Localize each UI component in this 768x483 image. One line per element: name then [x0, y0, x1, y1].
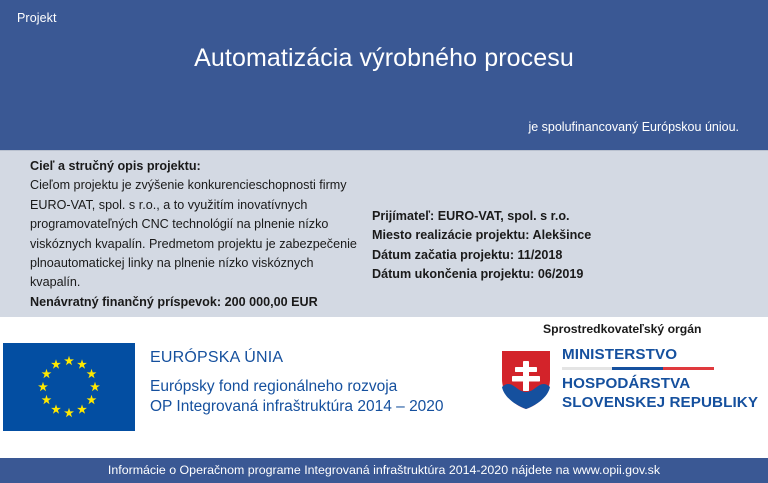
logo-band: Sprostredkovateľský orgán EURÓPSKA ÚNIA … [0, 317, 768, 458]
eu-logo: EURÓPSKA ÚNIA Európsky fond regionálneho… [3, 343, 483, 431]
project-grant-amount: Nenávratný finančný príspevok: 200 000,0… [30, 293, 360, 312]
rule-segment-red [663, 367, 714, 370]
project-description-heading: Cieľ a stručný opis projektu: [30, 157, 360, 176]
detail-start-date: Dátum začatia projektu: 11/2018 [372, 246, 742, 265]
detail-beneficiary: Prijímateľ: EURO-VAT, spol. s r.o. [372, 207, 742, 226]
eu-title-line: EURÓPSKA ÚNIA [150, 345, 444, 371]
header-banner: Projekt Automatizácia výrobného procesu … [0, 0, 768, 150]
intermediary-body-label: Sprostredkovateľský orgán [543, 322, 701, 336]
eu-flag-icon [3, 343, 135, 431]
eu-logo-text: EURÓPSKA ÚNIA Európsky fond regionálneho… [150, 345, 444, 417]
header-eyebrow-label: Projekt [17, 11, 57, 25]
project-details-column: Prijímateľ: EURO-VAT, spol. s r.o. Miest… [372, 207, 742, 285]
page-title: Automatizácia výrobného procesu [0, 44, 768, 73]
project-info-panel: Cieľ a stručný opis projektu: Cieľom pro… [0, 150, 768, 317]
detail-location: Miesto realizácie projektu: Alekšince [372, 226, 742, 245]
ministry-logo-text: MINISTERSTVO HOSPODÁRSTVA SLOVENSKEJ REP… [562, 345, 758, 412]
slovak-coat-of-arms-icon [500, 349, 552, 411]
rule-segment-white [562, 367, 612, 370]
detail-end-date: Dátum ukončenia projektu: 06/2019 [372, 265, 742, 284]
eu-fund-line: Európsky fond regionálneho rozvoja [150, 377, 444, 397]
ministry-logo: MINISTERSTVO HOSPODÁRSTVA SLOVENSKEJ REP… [500, 345, 762, 435]
ministry-tricolor-rule [562, 367, 714, 370]
footer-info-text: Informácie o Operačnom programe Integrov… [108, 463, 660, 477]
footer-banner: Informácie o Operačnom programe Integrov… [0, 458, 768, 483]
eu-stars-svg [3, 343, 135, 431]
ministry-line-1: MINISTERSTVO [562, 345, 758, 364]
ministry-line-2: HOSPODÁRSTVA [562, 374, 758, 393]
project-description-column: Cieľ a stručný opis projektu: Cieľom pro… [30, 157, 360, 312]
panel-top-divider [0, 150, 768, 151]
ministry-line-3: SLOVENSKEJ REPUBLIKY [562, 393, 758, 412]
project-description-text: Cieľom projektu je zvýšenie konkurencies… [30, 176, 360, 292]
header-subtitle: je spolufinancovaný Európskou úniou. [528, 120, 739, 134]
eu-program-line: OP Integrovaná infraštruktúra 2014 – 202… [150, 397, 444, 417]
rule-segment-blue [612, 367, 663, 370]
